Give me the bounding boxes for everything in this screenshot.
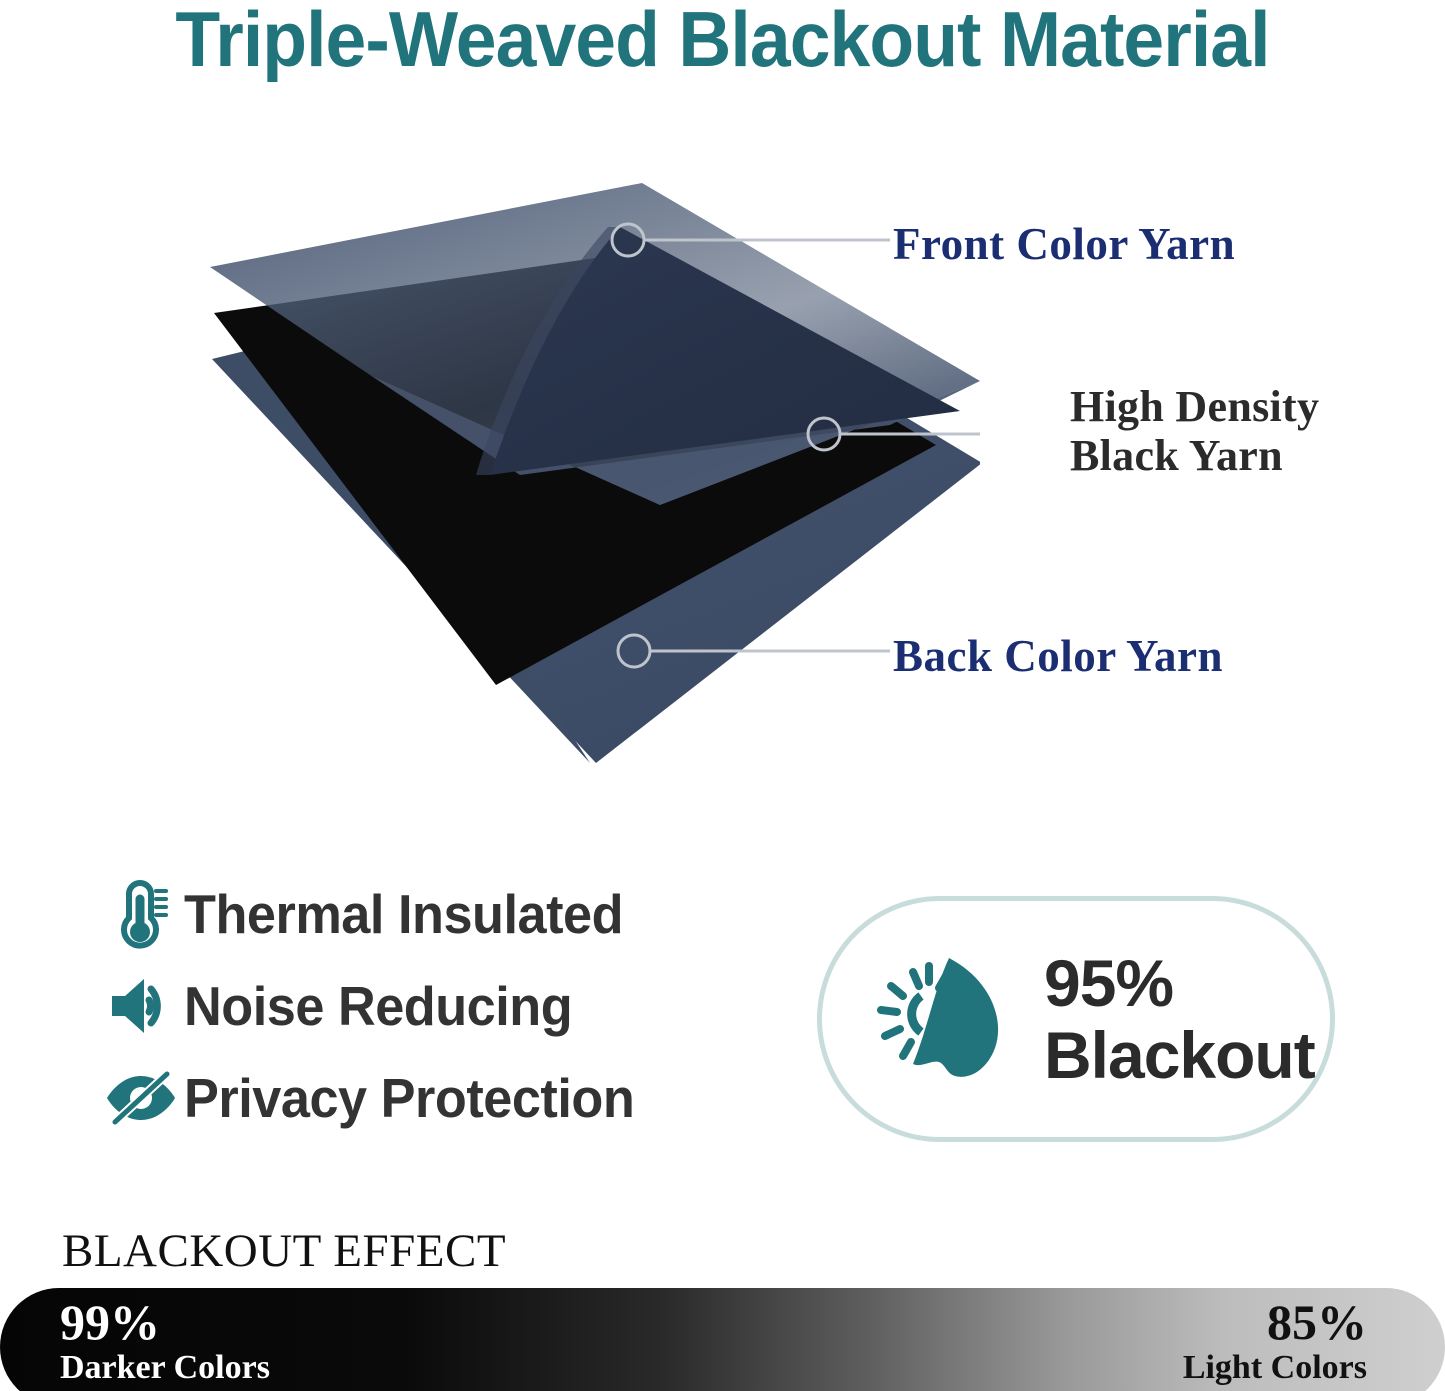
speaker-sound-icon (98, 973, 184, 1039)
right-stat-percent: 85% (1183, 1296, 1367, 1349)
infographic-page: Triple-Weaved Blackout Material (0, 0, 1445, 1391)
left-stat-caption: Darker Colors (60, 1349, 270, 1386)
feature-list: Thermal Insulated Noise Reducing (98, 870, 758, 1146)
feature-item-thermal-insulated: Thermal Insulated (98, 870, 758, 958)
eye-slash-icon (98, 1068, 184, 1128)
sun-blocked-curtain-icon (822, 944, 1044, 1094)
callout-label-line-2: Black Yarn (1070, 431, 1319, 480)
badge-word: Blackout (1044, 1022, 1315, 1088)
callout-label-back-color-yarn: Back Color Yarn (893, 630, 1223, 682)
callout-label-line-1: High Density (1070, 382, 1319, 431)
feature-item-noise-reducing: Noise Reducing (98, 962, 758, 1050)
fabric-layers-diagram (190, 175, 980, 775)
feature-label-privacy-protection: Privacy Protection (184, 1066, 634, 1130)
blackout-effect-title: BLACKOUT EFFECT (62, 1224, 506, 1278)
right-stat-caption: Light Colors (1183, 1349, 1367, 1386)
blackout-percentage-badge: 95% Blackout (817, 896, 1335, 1142)
callout-label-high-density-black-yarn: High Density Black Yarn (1070, 382, 1319, 481)
gradient-bar-left-stat: 99% Darker Colors (60, 1296, 270, 1386)
thermometer-icon (98, 877, 184, 951)
page-title: Triple-Weaved Blackout Material (43, 0, 1401, 85)
badge-text-block: 95% Blackout (1044, 950, 1315, 1088)
badge-percent: 95% (1044, 950, 1315, 1016)
feature-item-privacy-protection: Privacy Protection (98, 1054, 758, 1142)
gradient-bar-right-stat: 85% Light Colors (1183, 1296, 1367, 1386)
feature-label-thermal-insulated: Thermal Insulated (184, 882, 623, 946)
left-stat-percent: 99% (60, 1296, 270, 1349)
callout-label-front-color-yarn: Front Color Yarn (893, 218, 1235, 270)
feature-label-noise-reducing: Noise Reducing (184, 974, 572, 1038)
